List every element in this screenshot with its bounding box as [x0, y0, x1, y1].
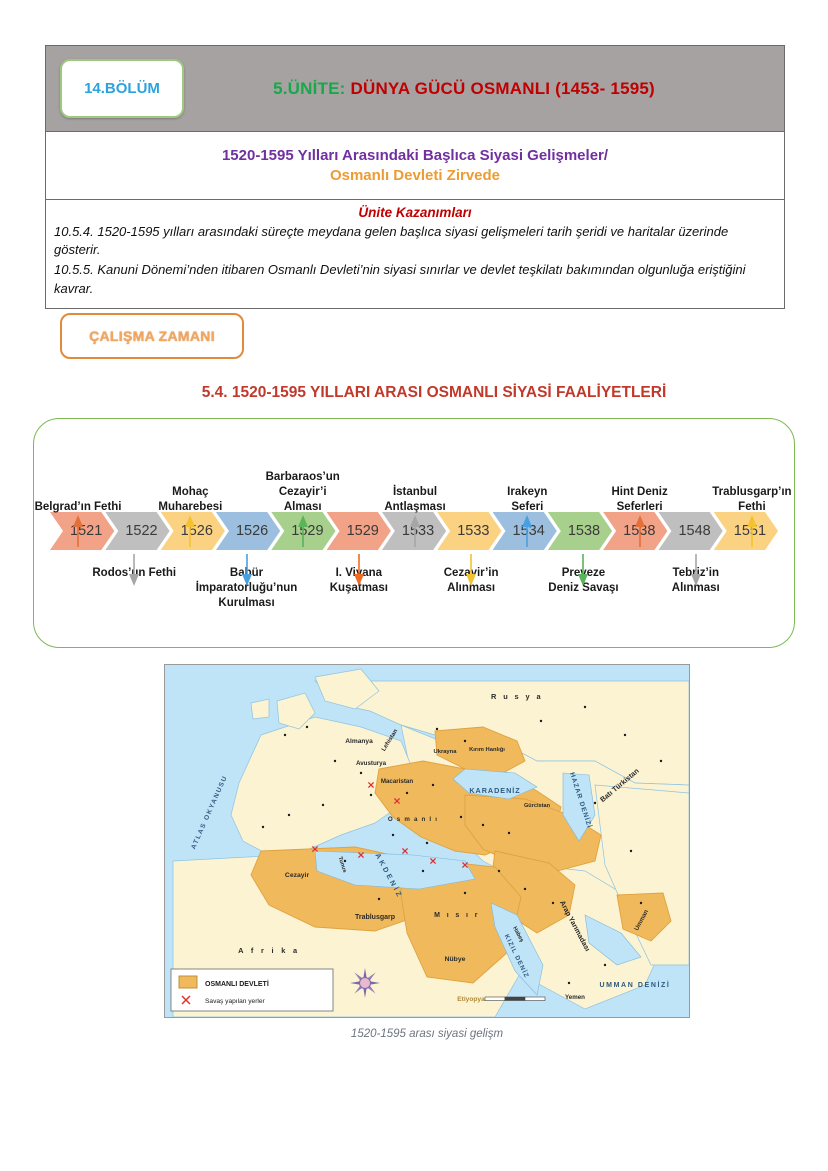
timeline-event-label: IrakeynSeferi: [467, 485, 587, 515]
compass-rose-icon: [350, 968, 380, 998]
chapter-badge-label: 14.BÖLÜM: [84, 80, 160, 97]
map-city-dot: [344, 860, 346, 862]
subtitle-line-2: Osmanlı Devleti Zirvede: [56, 166, 774, 186]
map-label: Almanya: [345, 738, 373, 745]
map-city-dot: [624, 734, 626, 736]
map-city-dot: [508, 832, 510, 834]
map-city-dot: [306, 726, 308, 728]
timeline-arrow-icon: [242, 554, 252, 586]
map-city-dot: [460, 816, 462, 818]
map-label: Kırım Hanlığı: [469, 747, 505, 753]
map-label: Cezayir: [285, 872, 310, 879]
map-city-dot: [604, 964, 606, 966]
timeline-arrow-icon: [578, 554, 588, 586]
map-label: Macaristan: [381, 778, 414, 785]
timeline-arrow-icon: [73, 515, 83, 547]
objective-item: 10.5.4. 1520-1595 yılları arasındaki sür…: [54, 223, 776, 261]
timeline-event-label: İstanbulAntlaşması: [355, 485, 475, 515]
map-city-dot: [284, 734, 286, 736]
subtitle-box: 1520-1595 Yılları Arasındaki Başlıca Siy…: [46, 131, 784, 199]
study-time-label: ÇALIŞMA ZAMANI: [89, 328, 215, 344]
objectives-box: Ünite Kazanımları 10.5.4. 1520-1595 yıll…: [46, 199, 784, 308]
map-label: Etiyopya: [457, 996, 485, 1003]
map-label: Ukrayna: [434, 749, 458, 755]
timeline-arrow-icon: [691, 554, 701, 586]
map-graphic: ATLAS OKYANUSUKARADENİZAKDENİZHAZAR DENİ…: [165, 665, 689, 1017]
map-city-dot: [552, 902, 554, 904]
subtitle-line-1: 1520-1595 Yılları Arasındaki Başlıca Siy…: [56, 146, 774, 166]
timeline-event-label: Belgrad’ın Fethi: [18, 500, 138, 515]
map-city-dot: [540, 720, 542, 722]
timeline-arrow-icon: [129, 554, 139, 586]
timeline-event-label: Barbaraos’unCezayir’iAlması: [243, 470, 363, 515]
map-legend: OSMANLI DEVLETİSavaş yapılan yerler: [171, 969, 333, 1011]
map-city-dot: [482, 824, 484, 826]
worksheet-page: 14.BÖLÜM 5.ÜNİTE: DÜNYA GÜCÜ OSMANLI (14…: [0, 0, 828, 1171]
map-city-dot: [262, 826, 264, 828]
map-label: Nübye: [445, 956, 466, 963]
map-city-dot: [406, 792, 408, 794]
map-scale-bar: [485, 997, 545, 1001]
timeline-arrow-icon: [185, 515, 195, 547]
timeline-event-label: Hint DenizSeferleri: [580, 485, 700, 515]
map-city-dot: [584, 706, 586, 708]
unit-title-text: DÜNYA GÜCÜ OSMANLI (1453- 1595): [350, 79, 654, 98]
map-city-dot: [660, 760, 662, 762]
timeline-arrow-icon: [522, 515, 532, 547]
objectives-heading: Ünite Kazanımları: [54, 205, 776, 220]
timeline-arrow-icon: [635, 515, 645, 547]
map-city-dot: [392, 834, 394, 836]
map-city-dot: [426, 842, 428, 844]
timeline-arrow-icon: [298, 515, 308, 547]
map-city-dot: [288, 814, 290, 816]
legend-battle-label: Savaş yapılan yerler: [205, 998, 266, 1005]
map-label: R u s y a: [491, 692, 543, 701]
chapter-badge: 14.BÖLÜM: [60, 59, 184, 118]
legend-territory-swatch: [179, 976, 197, 988]
map-label: Trablusgarp: [355, 914, 395, 921]
header-box: 14.BÖLÜM 5.ÜNİTE: DÜNYA GÜCÜ OSMANLI (14…: [45, 45, 785, 309]
map-label: M ı s ı r: [434, 912, 480, 919]
timeline-arrow-icon: [410, 515, 420, 547]
map-label: A f r i k a: [238, 946, 300, 955]
objective-item: 10.5.5. Kanuni Dönemi’nden itibaren Osma…: [54, 261, 776, 299]
map-label: Gürcistan: [524, 803, 551, 809]
map-label: UMMAN DENİZİ: [600, 981, 671, 989]
timeline-arrow-icon: [354, 554, 364, 586]
map-city-dot: [640, 902, 642, 904]
map-caption: 1520-1595 arası siyasi gelişm: [164, 1028, 690, 1040]
map-city-dot: [594, 802, 596, 804]
header-bar: 14.BÖLÜM 5.ÜNİTE: DÜNYA GÜCÜ OSMANLI (14…: [46, 46, 784, 131]
study-time-button[interactable]: ÇALIŞMA ZAMANI: [60, 313, 244, 359]
legend-territory-label: OSMANLI DEVLETİ: [205, 980, 269, 988]
map-city-dot: [498, 870, 500, 872]
map-city-dot: [378, 898, 380, 900]
map-city-dot: [360, 772, 362, 774]
unit-title: 5.ÜNİTE: DÜNYA GÜCÜ OSMANLI (1453- 1595): [184, 79, 784, 99]
map-city-dot: [524, 888, 526, 890]
timeline-panel: 1521152215261526152915291533153315341538…: [33, 418, 795, 648]
section-heading: 5.4. 1520-1595 YILLARI ARASI OSMANLI SİY…: [0, 384, 828, 402]
map-city-dot: [322, 804, 324, 806]
map-city-dot: [436, 728, 438, 730]
unit-prefix: 5.ÜNİTE:: [273, 79, 345, 98]
timeline-annotations: Belgrad’ın FethiRodos’un FethiMohaçMuhar…: [34, 419, 794, 647]
map-city-dot: [464, 740, 466, 742]
map-city-dot: [464, 892, 466, 894]
map-city-dot: [334, 760, 336, 762]
timeline-arrow-icon: [747, 515, 757, 547]
timeline-event-label: Trablusgarp’ınFethi: [692, 485, 812, 515]
map-label: Avusturya: [356, 760, 387, 767]
historical-map: ATLAS OKYANUSUKARADENİZAKDENİZHAZAR DENİ…: [164, 664, 690, 1018]
map-label: Yemen: [565, 994, 585, 1001]
map-label: KARADENİZ: [469, 786, 520, 795]
map-city-dot: [432, 784, 434, 786]
map-city-dot: [422, 870, 424, 872]
timeline-event-label: MohaçMuharebesi: [130, 485, 250, 515]
map-label: O s m a n l ı: [388, 816, 438, 823]
map-city-dot: [568, 982, 570, 984]
map-city-dot: [630, 850, 632, 852]
timeline-arrow-icon: [466, 554, 476, 586]
map-city-dot: [370, 794, 372, 796]
